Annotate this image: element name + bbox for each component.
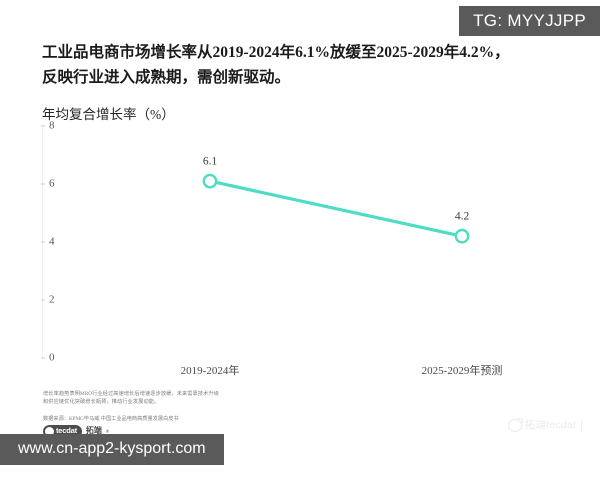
footnote: 增长率趋势表明MRO行业经过高速增长后增速逐步放缓，未来需靠技术升级 和供应链优…	[43, 390, 323, 407]
footnote-line-2: 和供应链优化突破增长瓶颈，推动行业发展动能。	[43, 398, 323, 406]
series-line-chart	[42, 126, 552, 358]
headline-line-2: 反映行业进入成熟期，需创新驱动。	[42, 65, 562, 90]
url-bar: www.cn-app2-kysport.com	[0, 434, 224, 465]
data-point-label: 6.1	[203, 157, 217, 169]
watermark-text: 拓端tecdat	[525, 420, 576, 431]
watermark-divider	[581, 420, 582, 431]
chart-page: TG: MYYJJPP 工业品电商市场增长率从2019-2024年6.1%放缓至…	[0, 0, 600, 480]
headline: 工业品电商市场增长率从2019-2024年6.1%放缓至2025-2029年4.…	[42, 40, 562, 90]
data-point-label: 4.2	[455, 212, 469, 224]
source-line: 数据来源：KPMG毕马威 中国工业品电商高质量发展白皮书	[43, 415, 179, 423]
data-point-marker[interactable]	[204, 175, 216, 187]
tg-banner: TG: MYYJJPP	[459, 6, 600, 36]
x-axis-label-1: 2019-2024年	[181, 366, 240, 377]
series-line	[210, 181, 462, 236]
data-point-marker[interactable]	[456, 230, 468, 242]
x-axis-label-2: 2025-2029年预测	[422, 366, 503, 377]
weibo-icon	[508, 419, 522, 432]
weibo-watermark: 拓端tecdat	[508, 419, 582, 432]
footnote-line-1: 增长率趋势表明MRO行业经过高速增长后增速逐步放缓，未来需靠技术升级	[43, 390, 323, 398]
headline-line-1: 工业品电商市场增长率从2019-2024年6.1%放缓至2025-2029年4.…	[42, 40, 562, 65]
chart-plot-area: 86420 6.14.2	[42, 126, 552, 358]
